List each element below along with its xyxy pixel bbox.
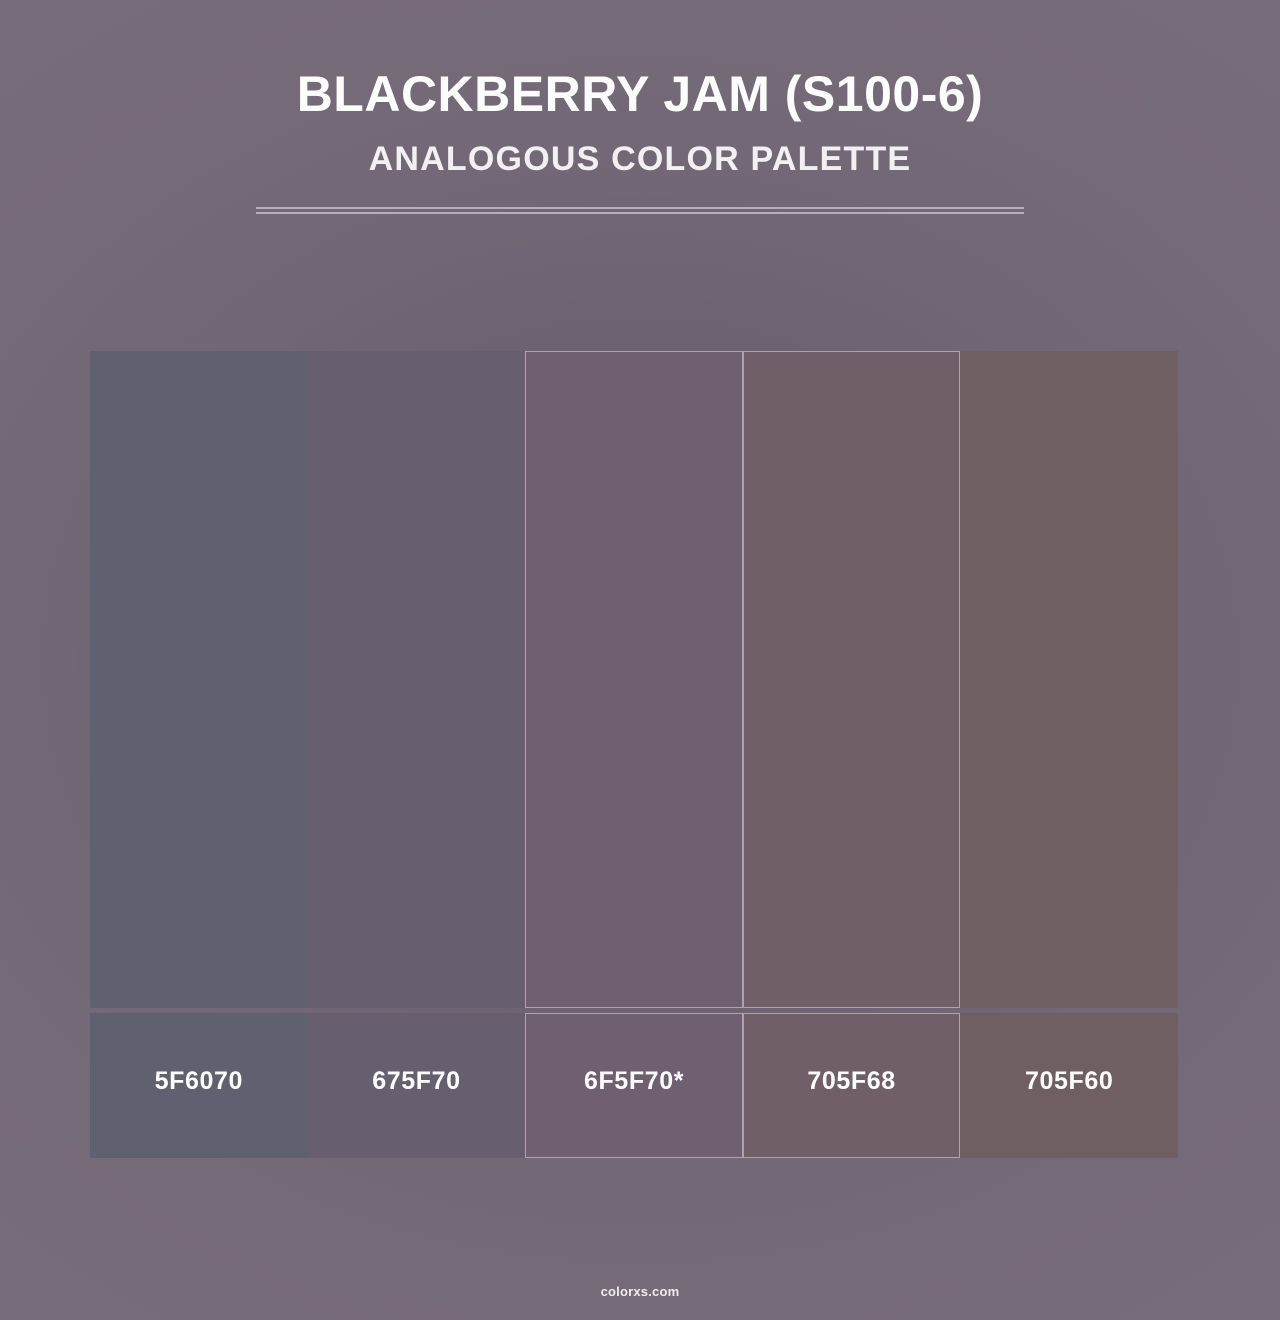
swatch-hex-label: 705F68 <box>807 1067 895 1096</box>
swatch-hex-label: 675F70 <box>372 1067 460 1096</box>
swatch-color-block <box>308 351 526 1008</box>
header: BLACKBERRY JAM (S100-6) ANALOGOUS COLOR … <box>0 0 1280 214</box>
color-swatch[interactable]: 5F6070 <box>90 351 308 1158</box>
color-swatch[interactable]: 705F60 <box>960 351 1178 1158</box>
swatch-label-band: 5F6070 <box>90 1013 308 1158</box>
footer: colorxs.com <box>0 1284 1280 1299</box>
swatch-label-band: 6F5F70* <box>525 1013 743 1158</box>
color-swatch[interactable]: 6F5F70* <box>525 351 743 1158</box>
swatch-hex-label: 705F60 <box>1025 1067 1113 1096</box>
divider-rule-bottom <box>256 212 1024 214</box>
color-swatch[interactable]: 705F68 <box>743 351 961 1158</box>
swatch-hex-label: 6F5F70* <box>584 1067 684 1096</box>
title-divider <box>256 207 1024 214</box>
page-title: BLACKBERRY JAM (S100-6) <box>0 68 1280 120</box>
color-palette: 5F6070675F706F5F70*705F68705F60 <box>90 351 1178 1158</box>
divider-rule-top <box>256 207 1024 209</box>
swatch-color-block <box>90 351 308 1008</box>
swatch-color-block <box>960 351 1178 1008</box>
color-swatch[interactable]: 675F70 <box>308 351 526 1158</box>
palette-page: BLACKBERRY JAM (S100-6) ANALOGOUS COLOR … <box>0 0 1280 1320</box>
site-brand: colorxs.com <box>0 1284 1280 1299</box>
swatch-label-band: 675F70 <box>308 1013 526 1158</box>
swatch-label-band: 705F60 <box>960 1013 1178 1158</box>
page-subtitle: ANALOGOUS COLOR PALETTE <box>0 142 1280 178</box>
swatch-color-block <box>525 351 743 1008</box>
swatch-hex-label: 5F6070 <box>155 1067 243 1096</box>
swatch-label-band: 705F68 <box>743 1013 961 1158</box>
swatch-color-block <box>743 351 961 1008</box>
